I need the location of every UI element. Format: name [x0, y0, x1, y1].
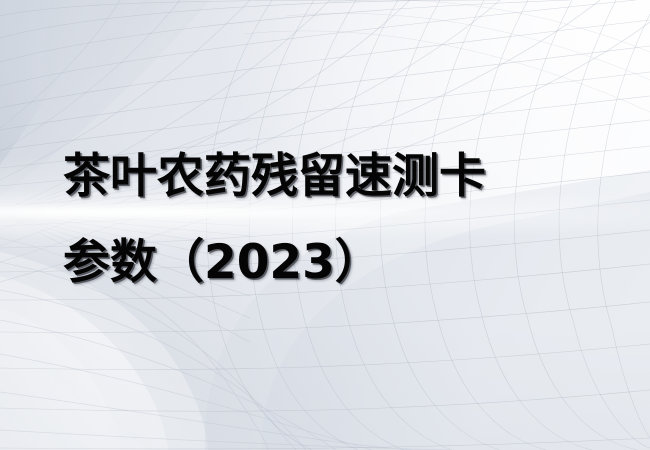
- title-line-product: 茶叶农药残留速测卡: [63, 134, 623, 220]
- page-title: 茶叶农药残留速测卡 参数（2023）: [63, 134, 623, 306]
- title-banner: 茶叶农药残留速测卡 参数（2023）: [0, 0, 650, 450]
- title-line-parameters: 参数（2023）: [63, 220, 623, 306]
